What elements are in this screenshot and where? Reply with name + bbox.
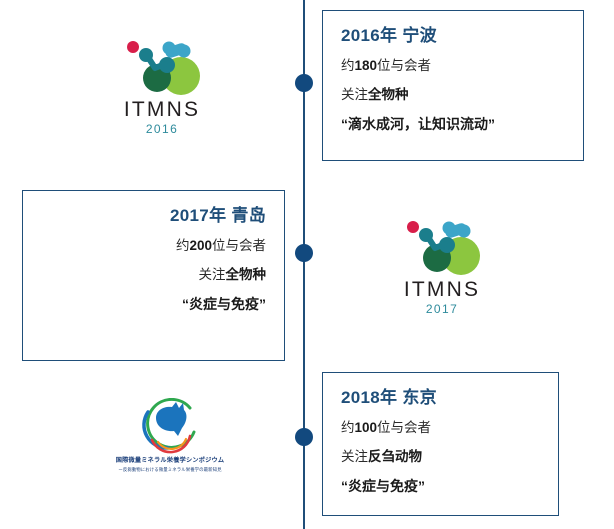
- attendees-prefix: 约: [341, 58, 355, 73]
- event-quote: “炎症与免疫”: [341, 476, 540, 496]
- focus-value: 反刍动物: [368, 449, 422, 464]
- itmns-wordmark: ITMNS: [388, 278, 496, 302]
- attendees-prefix: 约: [341, 420, 355, 435]
- focus-prefix: 关注: [341, 87, 368, 102]
- event-card-2016: 2016年 宁波 约180位与会者 关注全物种 “滴水成河，让知识流动”: [322, 10, 584, 161]
- symposium-logo-2018: 国際微量ミネラル栄養学シンポジウム ー反芻動物における微量ミネラル栄養学の最新知…: [100, 398, 240, 473]
- attendees-suffix: 位与会者: [377, 58, 431, 73]
- event-quote: “炎症与免疫”: [41, 294, 266, 314]
- timeline-node-2016: [295, 74, 313, 92]
- itmns-year: 2017: [388, 302, 496, 316]
- focus-value: 全物种: [226, 267, 267, 282]
- event-quote: “滴水成河，让知识流动”: [341, 114, 565, 134]
- focus-value: 全物种: [368, 87, 409, 102]
- focus-prefix: 关注: [199, 267, 226, 282]
- itmns-year: 2016: [108, 122, 216, 136]
- timeline-node-2018: [295, 428, 313, 446]
- event-title: 2018年 东京: [341, 387, 540, 409]
- event-focus: 关注全物种: [341, 85, 565, 105]
- timeline-node-2017: [295, 244, 313, 262]
- itmns-logo-2016: ITMNS 2016: [108, 38, 216, 136]
- attendees-prefix: 约: [176, 238, 190, 253]
- itmns-logo-2017: ITMNS 2017: [388, 218, 496, 316]
- event-attendees: 约180位与会者: [341, 56, 565, 76]
- event-title: 2016年 宁波: [341, 25, 565, 47]
- event-card-2018: 2018年 东京 约100位与会者 关注反刍动物 “炎症与免疫”: [322, 372, 559, 516]
- attendees-suffix: 位与会者: [212, 238, 266, 253]
- symposium-title: 国際微量ミネラル栄養学シンポジウム: [100, 457, 240, 465]
- molecule-icon: [121, 38, 203, 96]
- event-focus: 关注反刍动物: [341, 447, 540, 467]
- attendees-count: 200: [189, 238, 212, 253]
- itmns-wordmark: ITMNS: [108, 98, 216, 122]
- event-title: 2017年 青岛: [41, 205, 266, 227]
- event-attendees: 约100位与会者: [341, 418, 540, 438]
- molecule-icon: [401, 218, 483, 276]
- cow-emblem-icon: [138, 398, 202, 454]
- attendees-count: 100: [355, 420, 378, 435]
- attendees-suffix: 位与会者: [377, 420, 431, 435]
- event-attendees: 约200位与会者: [41, 236, 266, 256]
- symposium-subtitle: ー反芻動物における微量ミネラル栄養学の最新知見: [100, 466, 240, 473]
- attendees-count: 180: [355, 58, 378, 73]
- event-card-2017: 2017年 青岛 约200位与会者 关注全物种 “炎症与免疫”: [22, 190, 285, 361]
- event-focus: 关注全物种: [41, 265, 266, 285]
- focus-prefix: 关注: [341, 449, 368, 464]
